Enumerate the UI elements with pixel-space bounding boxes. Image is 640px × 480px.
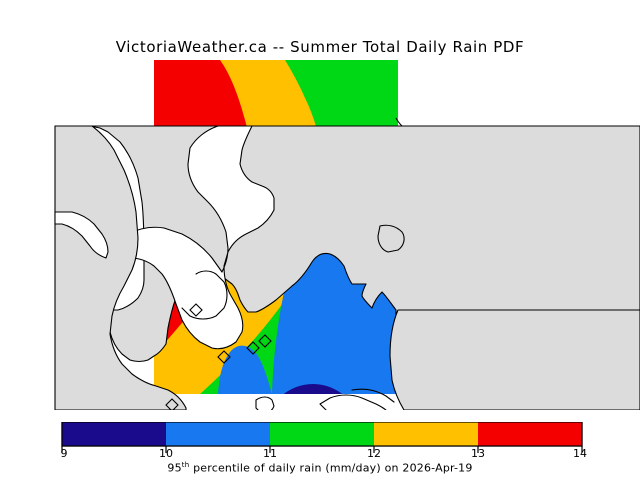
colorbar-segment-10-11[interactable] xyxy=(166,422,270,446)
colorbar-segment-9-10[interactable] xyxy=(62,422,166,446)
colorbar: 9 10 11 12 13 14 95th percentile of dail… xyxy=(0,415,640,480)
colorbar-segments xyxy=(62,422,582,446)
colorbar-tick-14: 14 xyxy=(573,447,587,460)
colorbar-caption: 95th percentile of daily rain (mm/day) o… xyxy=(0,461,640,475)
caption-rest: percentile of daily rain (mm/day) on 202… xyxy=(189,462,472,475)
colorbar-tick-13: 13 xyxy=(471,447,485,460)
map-canvas xyxy=(0,60,640,410)
colorbar-tick-9: 9 xyxy=(61,447,68,460)
caption-prefix: 95 xyxy=(167,462,181,475)
colorbar-tick-12: 12 xyxy=(367,447,381,460)
colorbar-tick-11: 11 xyxy=(263,447,277,460)
southeast-coast xyxy=(390,310,640,410)
colorbar-segment-11-12[interactable] xyxy=(270,422,374,446)
colorbar-tick-10: 10 xyxy=(159,447,173,460)
colorbar-svg xyxy=(0,422,640,457)
colorbar-segment-13-14[interactable] xyxy=(478,422,582,446)
colorbar-tick-marks xyxy=(62,446,582,453)
weather-map-page: VictoriaWeather.ca -- Summer Total Daily… xyxy=(0,0,640,480)
colorbar-segment-12-13[interactable] xyxy=(374,422,478,446)
page-title: VictoriaWeather.ca -- Summer Total Daily… xyxy=(0,38,640,56)
map-svg xyxy=(0,60,640,410)
